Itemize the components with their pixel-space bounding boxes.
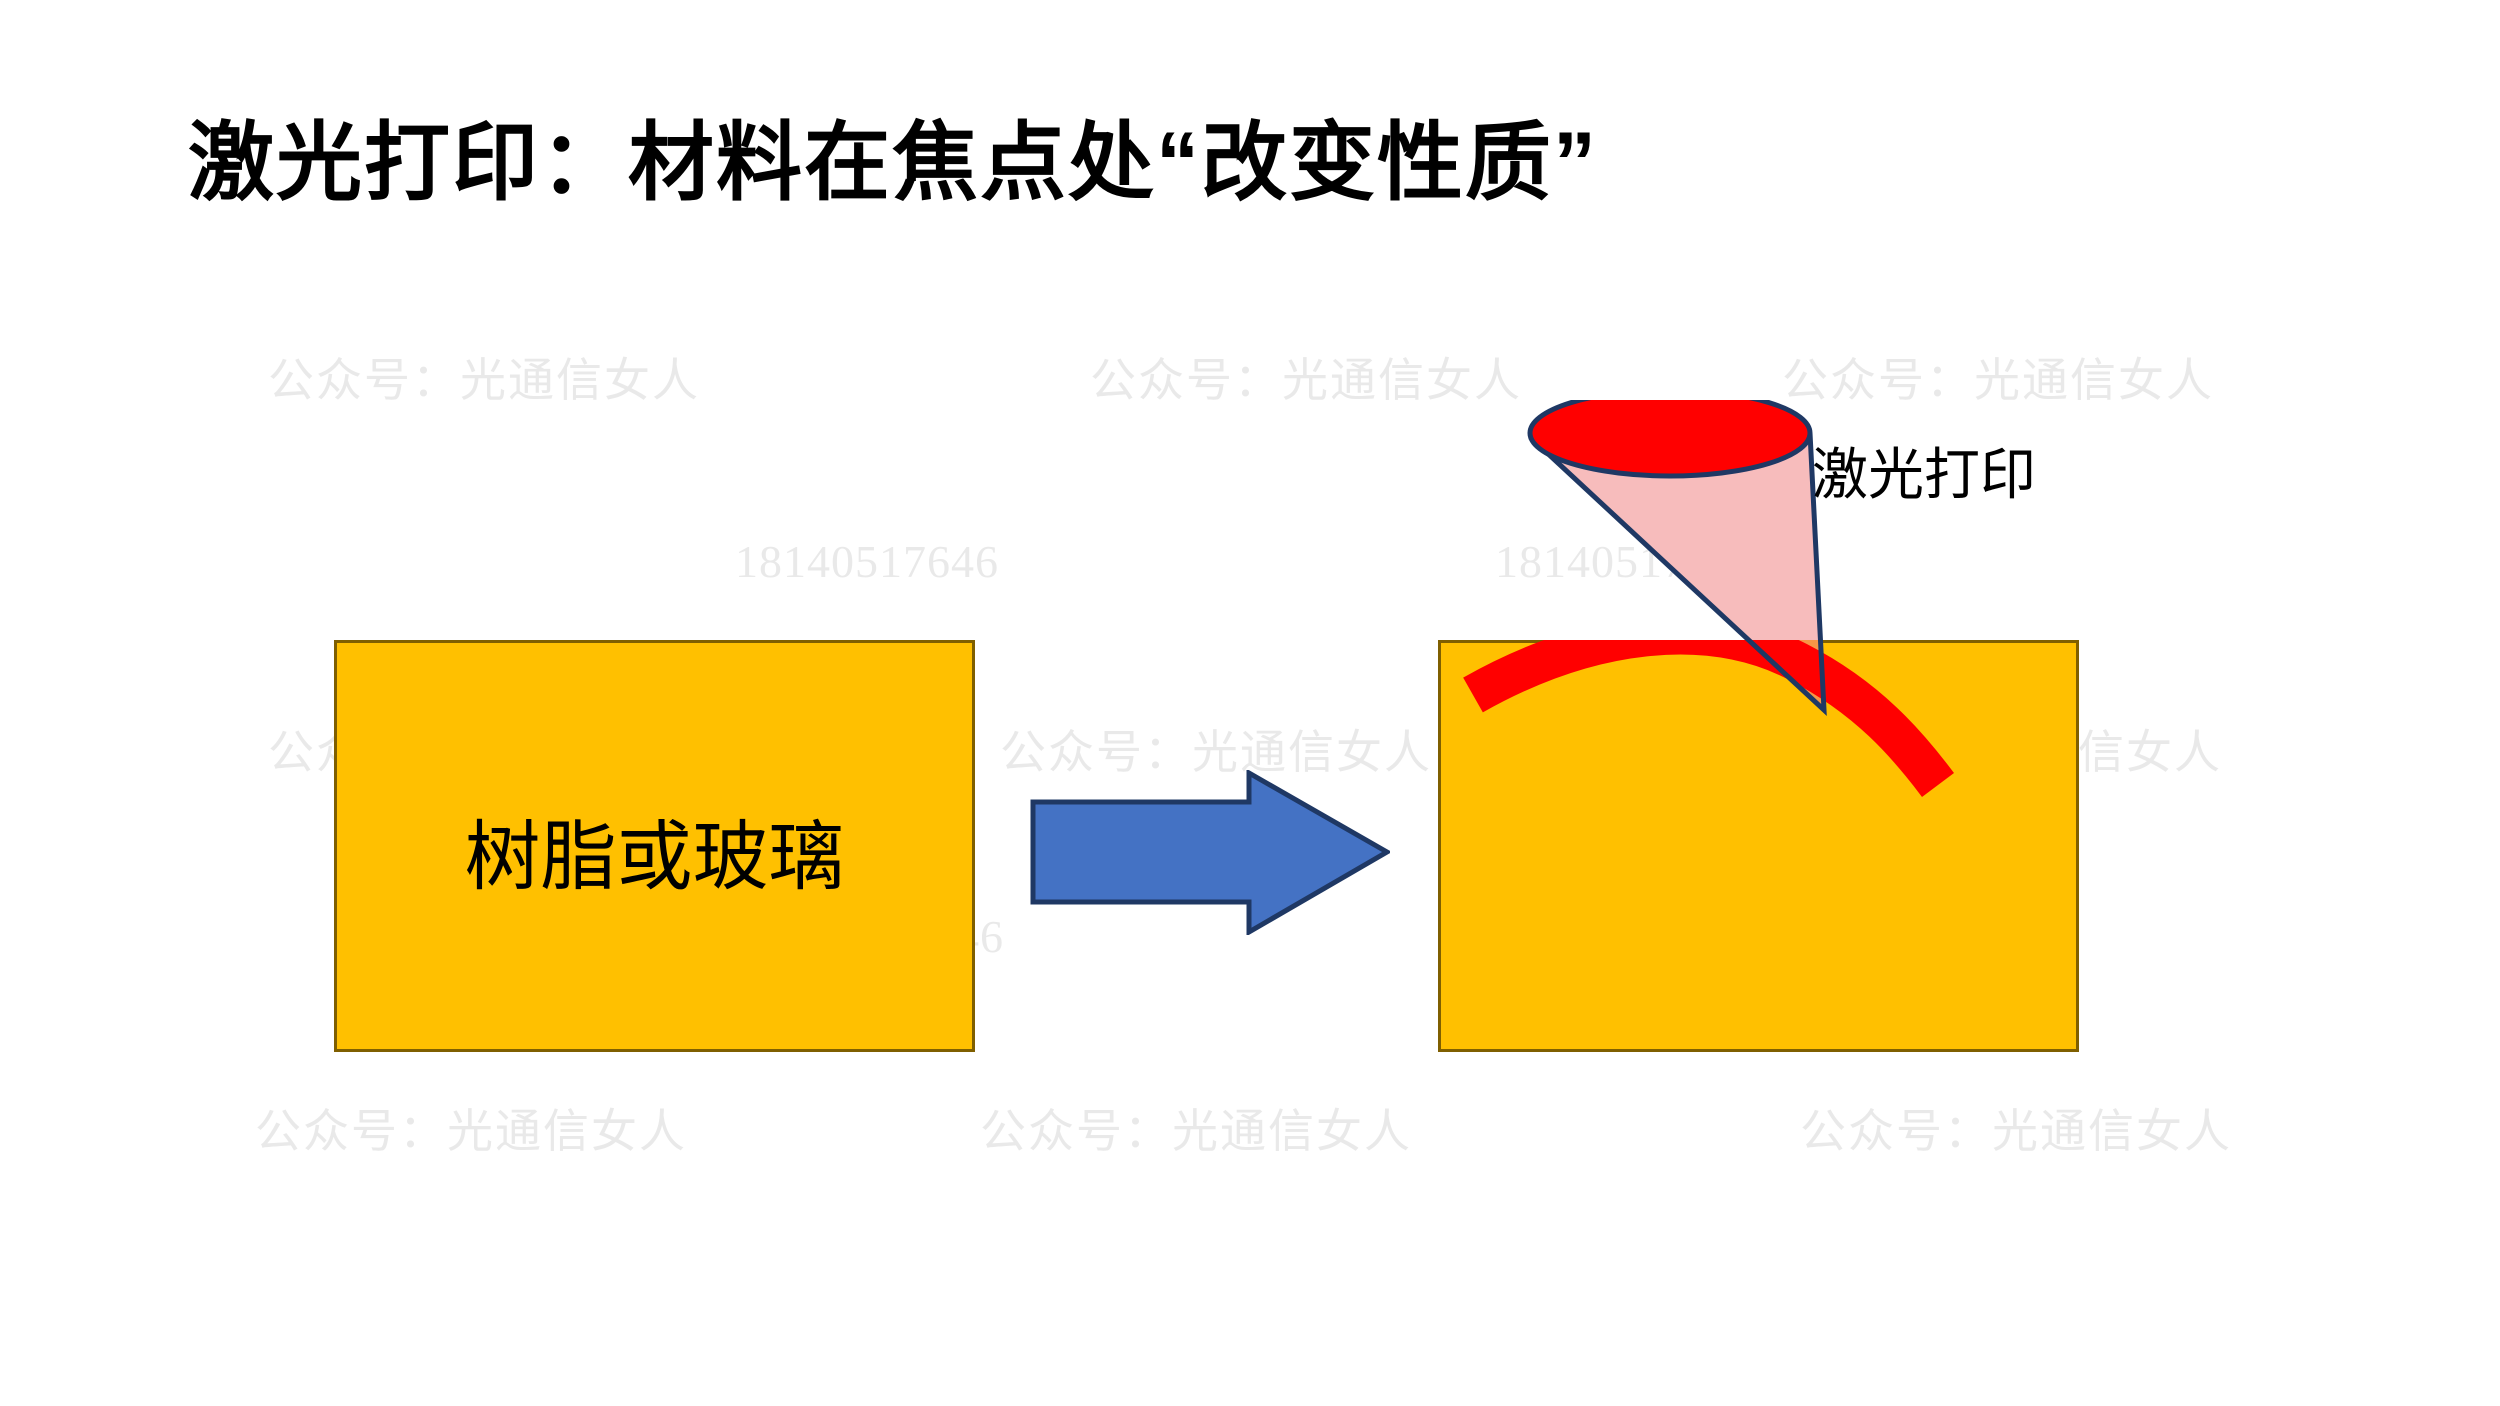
material-block-left-label: 树脂或玻璃 [337,795,972,905]
laser-label: 激光打印 [1812,430,2036,511]
slide-canvas: 公众号：光通信女人公众号：光通信女人公众号：光通信女人公众号：光通信女人公众号：… [0,0,2500,1406]
laser-aperture-icon [1530,400,1810,476]
page-title: 激光打印：材料在焦点处“改变性质” [188,92,1598,217]
watermark-account-6: 公众号：光通信女人 [255,1095,687,1161]
watermark-phone-0: 18140517646 [735,535,999,588]
written-line [1473,635,1938,785]
watermark-account-7: 公众号：光通信女人 [980,1095,1412,1161]
watermark-account-0: 公众号：光通信女人 [268,344,700,410]
material-block-left: 树脂或玻璃 [334,640,975,1052]
process-arrow [1030,770,1390,935]
watermark-account-8: 公众号：光通信女人 [1800,1095,2232,1161]
arrow-right-icon [1033,773,1387,932]
